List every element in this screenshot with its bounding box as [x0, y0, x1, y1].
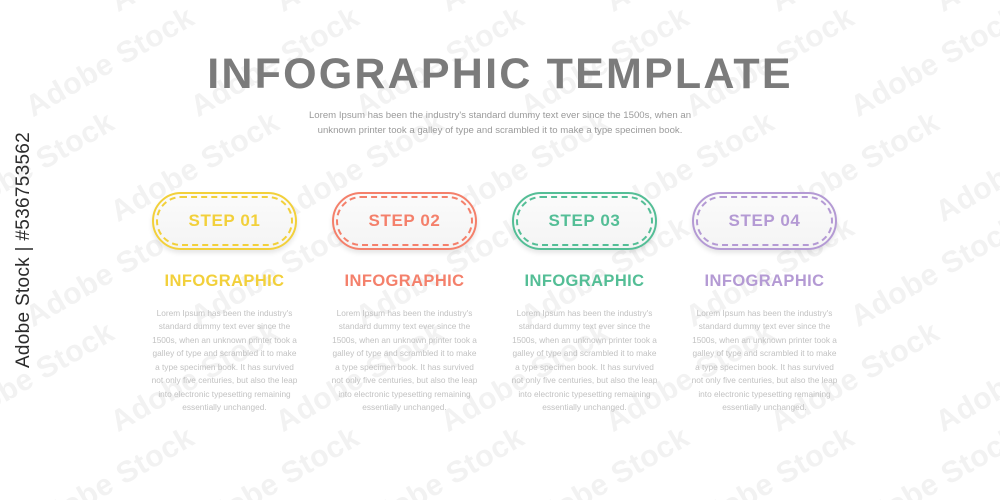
header: INFOGRAPHIC TEMPLATE Lorem Ipsum has bee…: [0, 52, 1000, 139]
step-column: STEP 02INFOGRAPHICLorem Ipsum has been t…: [332, 192, 477, 415]
step-heading: INFOGRAPHIC: [165, 272, 285, 291]
steps-row: STEP 01INFOGRAPHICLorem Ipsum has been t…: [152, 192, 880, 415]
step-badge[interactable]: STEP 04: [692, 192, 837, 250]
step-badge[interactable]: STEP 02: [332, 192, 477, 250]
step-body-text: Lorem Ipsum has been the industry's stan…: [510, 307, 660, 415]
step-body-text: Lorem Ipsum has been the industry's stan…: [150, 307, 300, 415]
step-body-text: Lorem Ipsum has been the industry's stan…: [690, 307, 840, 415]
step-heading: INFOGRAPHIC: [345, 272, 465, 291]
step-badge-label: STEP 01: [189, 211, 261, 231]
page-title: INFOGRAPHIC TEMPLATE: [0, 52, 1000, 97]
step-badge[interactable]: STEP 01: [152, 192, 297, 250]
step-heading: INFOGRAPHIC: [525, 272, 645, 291]
page-subtitle: Lorem Ipsum has been the industry's stan…: [300, 109, 700, 139]
step-badge-label: STEP 03: [549, 211, 621, 231]
step-badge[interactable]: STEP 03: [512, 192, 657, 250]
step-body-text: Lorem Ipsum has been the industry's stan…: [330, 307, 480, 415]
step-column: STEP 04INFOGRAPHICLorem Ipsum has been t…: [692, 192, 837, 415]
step-column: STEP 01INFOGRAPHICLorem Ipsum has been t…: [152, 192, 297, 415]
step-column: STEP 03INFOGRAPHICLorem Ipsum has been t…: [512, 192, 657, 415]
step-badge-label: STEP 02: [369, 211, 441, 231]
step-badge-label: STEP 04: [729, 211, 801, 231]
step-heading: INFOGRAPHIC: [705, 272, 825, 291]
infographic-page: INFOGRAPHIC TEMPLATE Lorem Ipsum has bee…: [0, 0, 1000, 500]
